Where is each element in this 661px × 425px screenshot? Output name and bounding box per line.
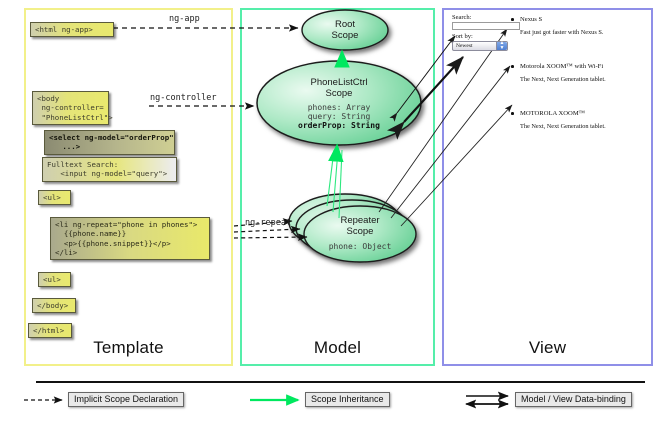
list-item[interactable]: Nexus S Fast just got faster with Nexus … — [520, 16, 648, 37]
edge-label-ng-controller: ng-controller — [150, 93, 217, 103]
search-input[interactable] — [452, 22, 520, 30]
list-item[interactable]: Motorola XOOM™ with Wi-Fi The Next, Next… — [520, 63, 648, 84]
bullet-icon — [511, 65, 514, 68]
bullet-icon — [511, 18, 514, 21]
panel-label-view: View — [442, 338, 653, 358]
template-box-body-close: </body> — [32, 298, 76, 313]
sort-select-value: Newest — [456, 43, 473, 49]
bullet-icon — [511, 112, 514, 115]
template-box-html-close: </html> — [28, 323, 72, 338]
template-box-ul-open: <ul> — [38, 190, 71, 205]
sort-label: Sort by: — [452, 33, 524, 40]
template-box-fulltext: Fulltext Search: <input ng-model="query"… — [42, 157, 177, 182]
phone-snippet: The Next, Next Generation tablet. — [520, 123, 648, 131]
template-box-ul-close: <ul> — [38, 272, 71, 287]
phone-name[interactable]: Motorola XOOM™ with Wi-Fi — [520, 63, 648, 71]
list-item[interactable]: MOTOROLA XOOM™ The Next, Next Generation… — [520, 110, 648, 131]
template-box-li: <li ng-repeat="phone in phones"> {{phone… — [50, 217, 210, 260]
panel-label-template: Template — [24, 338, 233, 358]
legend-item-implicit: Implicit Scope Declaration — [68, 392, 184, 407]
edge-label-ng-repeat: ng-repeat — [245, 218, 291, 228]
chevron-updown-icon[interactable]: ▲▼ — [496, 42, 507, 50]
template-box-html: <html ng-app> — [30, 22, 114, 37]
phone-name[interactable]: MOTOROLA XOOM™ — [520, 110, 648, 118]
legend-item-inheritance: Scope Inheritance — [305, 392, 390, 407]
template-box-select: <select ng-model="orderProp" ...> — [44, 130, 175, 155]
template-box-body: <body ng-controller= "PhoneListCtrl"> — [32, 91, 109, 125]
edge-label-ng-app: ng-app — [169, 14, 200, 24]
sort-select[interactable]: Newest ▲▼ — [452, 41, 508, 51]
legend-item-databinding: Model / View Data-binding — [515, 392, 632, 407]
phone-snippet: The Next, Next Generation tablet. — [520, 76, 648, 84]
phone-snippet: Fast just got faster with Nexus S. — [520, 29, 648, 37]
legend-divider — [36, 381, 645, 383]
panel-label-model: Model — [240, 338, 435, 358]
phone-name[interactable]: Nexus S — [520, 16, 648, 24]
diagram-canvas: <html ng-app> <body ng-controller= "Phon… — [0, 0, 661, 425]
